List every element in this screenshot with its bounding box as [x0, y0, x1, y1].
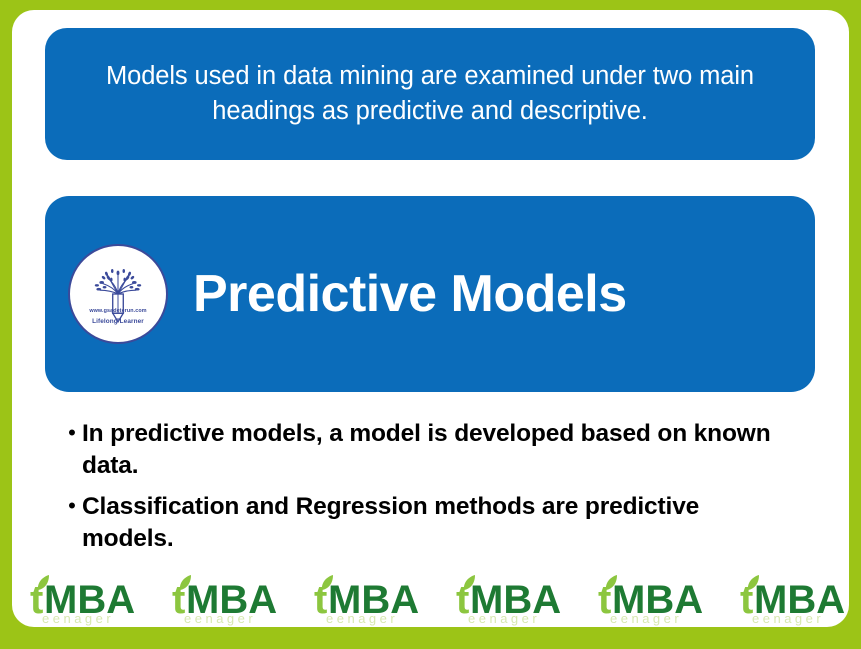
- tmba-logo-icon: t MBA eenager: [160, 571, 285, 627]
- intro-banner-text: Models used in data mining are examined …: [85, 59, 775, 129]
- bullet-text: In predictive models, a model is develop…: [82, 418, 797, 483]
- pencil-tree-icon: [70, 246, 166, 342]
- bullet-text: Classification and Regression methods ar…: [82, 491, 797, 556]
- tmba-logo-icon: t MBA eenager: [18, 571, 143, 627]
- svg-text:eenager: eenager: [184, 611, 256, 626]
- slide-title: Predictive Models: [193, 196, 627, 392]
- list-item: • Classification and Regression methods …: [62, 491, 822, 556]
- svg-text:eenager: eenager: [326, 611, 398, 626]
- bullet-marker-icon: •: [62, 491, 82, 520]
- footer-logo-strip: t MBA eenager t MBA eenager t MBA eenage…: [0, 569, 861, 627]
- tmba-logo-icon: t MBA eenager: [302, 571, 427, 627]
- tmba-logo: t MBA eenager: [444, 571, 569, 627]
- presentation-slide: Models used in data mining are examined …: [0, 0, 861, 649]
- tmba-logo-icon: t MBA eenager: [444, 571, 569, 627]
- svg-text:eenager: eenager: [468, 611, 540, 626]
- tmba-logo: t MBA eenager: [302, 571, 427, 627]
- brand-logo-url: www.gsadeterun.com: [70, 308, 166, 314]
- tmba-logo: t MBA eenager: [728, 571, 853, 627]
- list-item: • In predictive models, a model is devel…: [62, 418, 822, 483]
- title-banner: www.gsadeterun.com Lifelong Learner Pred…: [45, 196, 815, 392]
- tmba-logo: t MBA eenager: [586, 571, 711, 627]
- tmba-logo-icon: t MBA eenager: [586, 571, 711, 627]
- svg-text:eenager: eenager: [752, 611, 824, 626]
- brand-logo: www.gsadeterun.com Lifelong Learner: [68, 244, 168, 344]
- tmba-logo-icon: t MBA eenager: [728, 571, 853, 627]
- tmba-logo: t MBA eenager: [18, 571, 143, 627]
- bullet-marker-icon: •: [62, 418, 82, 447]
- bullet-list: • In predictive models, a model is devel…: [62, 418, 822, 563]
- brand-logo-tagline: Lifelong Learner: [70, 318, 166, 325]
- svg-text:eenager: eenager: [610, 611, 682, 626]
- intro-banner: Models used in data mining are examined …: [45, 28, 815, 160]
- tmba-logo: t MBA eenager: [160, 571, 285, 627]
- svg-text:eenager: eenager: [42, 611, 114, 626]
